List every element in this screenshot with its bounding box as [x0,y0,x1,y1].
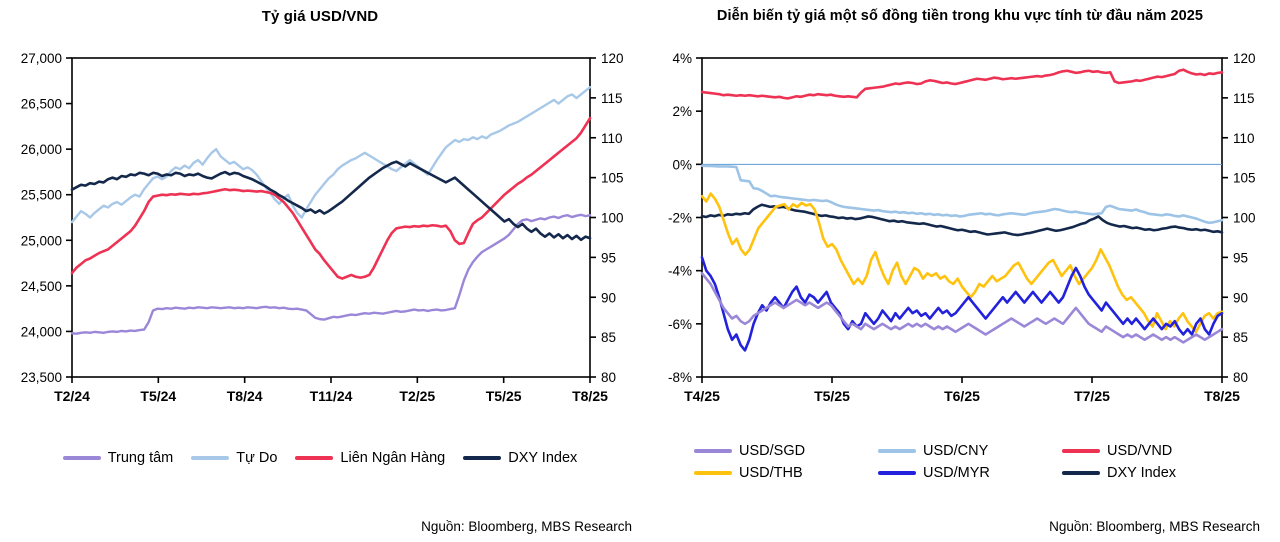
svg-text:26,000: 26,000 [21,142,62,157]
svg-text:T11/24: T11/24 [310,388,353,404]
legend-item-usd-thb[interactable]: USD/THB [694,465,864,481]
svg-text:80: 80 [601,370,616,385]
usdvnd-plot: 23,50024,00024,50025,00025,50026,00026,5… [0,50,640,415]
source-note-right: Nguồn: Bloomberg, MBS Research [1049,519,1260,534]
legend-item-usd-myr[interactable]: USD/MYR [878,465,1048,481]
legend-swatch-icon [63,456,101,460]
svg-text:100: 100 [1233,211,1256,226]
svg-text:120: 120 [1233,51,1256,66]
svg-text:T5/25: T5/25 [814,388,850,404]
svg-text:90: 90 [601,290,616,305]
series-line-usd-sgd [702,273,1222,342]
legend-swatch-icon [1062,471,1100,475]
svg-text:T2/25: T2/25 [399,388,435,404]
series-line-li-n-ng-n-h-ng [72,118,590,278]
svg-text:T8/25: T8/25 [572,388,608,404]
legend-swatch-icon [191,456,229,460]
svg-text:115: 115 [601,91,623,106]
svg-text:100: 100 [601,211,624,226]
svg-text:25,000: 25,000 [21,233,62,248]
svg-text:2%: 2% [672,104,692,119]
source-note-left: Nguồn: Bloomberg, MBS Research [421,519,632,534]
legend-label: USD/VND [1107,443,1172,459]
legend-label: USD/MYR [923,465,990,481]
series-line-usd-cny [702,166,1222,223]
series-line-dxy-index [702,205,1222,235]
svg-text:T5/24: T5/24 [140,388,176,404]
legend-item-t-do[interactable]: Tự Do [191,450,277,466]
legend-item-trung-t-m[interactable]: Trung tâm [63,450,174,466]
svg-text:4%: 4% [672,51,692,66]
series-line-usd-myr [702,257,1222,350]
legend-swatch-icon [1062,449,1100,453]
svg-text:105: 105 [601,171,624,186]
page-title: Tỷ giá USD/VND [0,8,640,25]
legend-label: Liên Ngân Hàng [340,450,445,466]
svg-text:110: 110 [601,131,623,146]
legend-item-li-n-ng-n-h-ng[interactable]: Liên Ngân Hàng [295,450,445,466]
legend-item-usd-vnd[interactable]: USD/VND [1062,443,1232,459]
chart-panel-usdvnd: Tỷ giá USD/VND 23,50024,00024,50025,0002… [0,0,640,542]
series-line-trung-t-m [72,215,590,334]
svg-text:24,000: 24,000 [21,324,62,339]
legend-item-dxy-index[interactable]: DXY Index [463,450,577,466]
regional-fx-plot: -8%-6%-4%-2%0%2%4%8085909510010511011512… [640,50,1280,415]
svg-text:-2%: -2% [668,211,692,226]
legend-swatch-icon [694,471,732,475]
svg-text:90: 90 [1233,290,1248,305]
legend-label: Tự Do [236,450,277,466]
legend-swatch-icon [694,449,732,453]
svg-text:105: 105 [1233,171,1256,186]
legend-label: Trung tâm [108,450,174,466]
svg-text:T7/25: T7/25 [1074,388,1110,404]
svg-text:0%: 0% [672,157,692,172]
svg-text:95: 95 [1233,250,1248,265]
svg-text:T2/24: T2/24 [54,388,90,404]
svg-text:-8%: -8% [668,370,692,385]
svg-text:26,500: 26,500 [21,97,62,112]
legend-label: DXY Index [508,450,577,466]
svg-text:T5/25: T5/25 [486,388,522,404]
svg-text:85: 85 [601,330,616,345]
svg-text:85: 85 [1233,330,1248,345]
legend-label: USD/CNY [923,443,988,459]
series-line-usd-thb [702,194,1222,332]
legend-swatch-icon [878,471,916,475]
legend-item-dxy-index[interactable]: DXY Index [1062,465,1232,481]
legend-label: USD/THB [739,465,803,481]
svg-text:115: 115 [1233,91,1255,106]
svg-text:T8/25: T8/25 [1204,388,1240,404]
svg-text:120: 120 [601,51,624,66]
series-line-usd-vnd [702,70,1222,99]
legend-swatch-icon [463,456,501,460]
svg-text:-6%: -6% [668,317,692,332]
chart-panel-regional-fx: Diễn biến tỷ giá một số đồng tiền trong … [640,0,1280,542]
svg-text:T8/24: T8/24 [227,388,263,404]
legend-label: DXY Index [1107,465,1176,481]
svg-text:110: 110 [1233,131,1255,146]
legend-regional-fx: USD/SGDUSD/CNYUSD/VNDUSD/THBUSD/MYRDXY I… [680,440,1280,484]
svg-text:80: 80 [1233,370,1248,385]
svg-text:23,500: 23,500 [21,370,62,385]
svg-text:27,000: 27,000 [21,51,62,66]
legend-label: USD/SGD [739,443,805,459]
legend-item-usd-cny[interactable]: USD/CNY [878,443,1048,459]
legend-usdvnd: Trung tâmTự DoLiên Ngân HàngDXY Index [0,450,640,466]
legend-swatch-icon [878,449,916,453]
svg-text:-4%: -4% [668,264,692,279]
svg-text:25,500: 25,500 [21,188,62,203]
svg-text:T6/25: T6/25 [944,388,980,404]
legend-item-usd-sgd[interactable]: USD/SGD [694,443,864,459]
legend-swatch-icon [295,456,333,460]
charts-container: Tỷ giá USD/VND 23,50024,00024,50025,0002… [0,0,1280,542]
svg-text:24,500: 24,500 [21,279,62,294]
svg-text:T4/25: T4/25 [684,388,720,404]
svg-text:95: 95 [601,250,616,265]
page-title-right: Diễn biến tỷ giá một số đồng tiền trong … [640,8,1280,24]
